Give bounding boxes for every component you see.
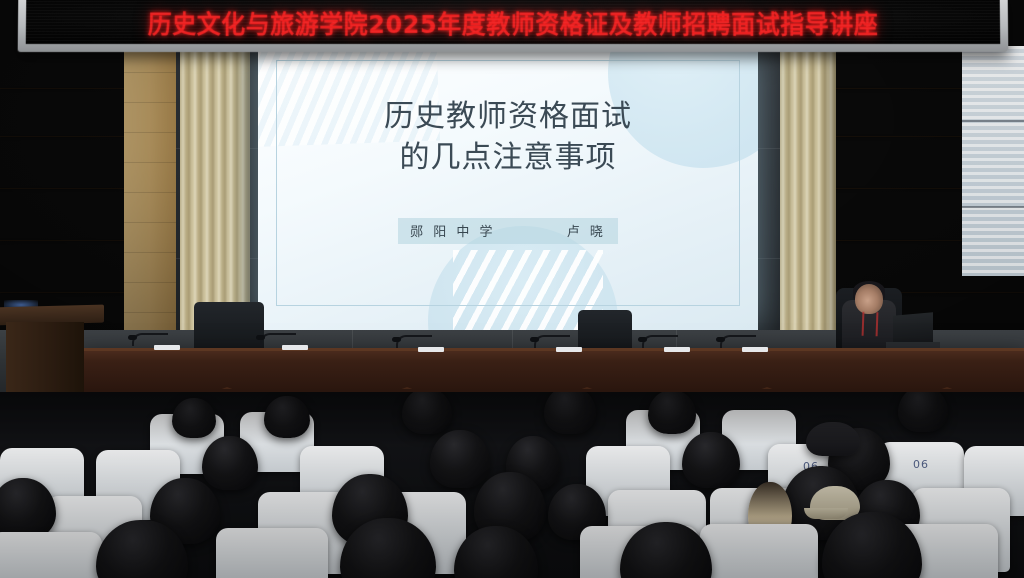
seat-number: 06 [913, 458, 929, 471]
microphone-head [530, 337, 539, 342]
audience-seat [700, 524, 818, 578]
microphone-base [742, 347, 768, 352]
lecture-hall-scene: 历史教师资格面试 的几点注意事项 郧 阳 中 学 卢 晓 历史文化与旅游学院20… [0, 0, 1024, 578]
audience-seat [216, 528, 328, 578]
table-microphone [128, 334, 180, 350]
audience-head [172, 398, 216, 438]
led-banner-screen: 历史文化与旅游学院2025年度教师资格证及教师招聘面试指导讲座 [26, 0, 1000, 44]
curtain-right [780, 44, 836, 362]
microphone-head [128, 335, 137, 340]
window-mullion [962, 120, 1024, 122]
window-blinds [962, 46, 1024, 276]
table-microphone [638, 336, 690, 352]
table-microphone [716, 336, 768, 352]
slide-frame: 历史教师资格面试 的几点注意事项 郧 阳 中 学 卢 晓 [276, 60, 740, 306]
audience-cap-dark [806, 422, 860, 456]
slide-title: 历史教师资格面试 的几点注意事项 [384, 97, 632, 178]
slide-title-line-1: 历史教师资格面试 [384, 97, 632, 138]
microphone-base [664, 347, 690, 352]
stage-chair [578, 310, 632, 352]
microphone-base [556, 347, 582, 352]
microphone-head [716, 337, 725, 342]
audience-cap-brim [804, 508, 848, 519]
audience-head [402, 392, 452, 434]
led-banner-text: 历史文化与旅游学院2025年度教师资格证及教师招聘面试指导讲座 [148, 2, 879, 39]
audience-area: 06 06 [0, 392, 1024, 578]
audience-head [544, 392, 596, 434]
microphone-head [392, 337, 401, 342]
stage-chair [194, 302, 264, 352]
window-mullion [962, 206, 1024, 208]
table-microphone [392, 336, 444, 352]
table-microphone [530, 336, 582, 352]
audience-head [264, 396, 310, 438]
audience-head [898, 392, 948, 432]
microphone-base [282, 345, 308, 350]
slide-subtitle: 郧 阳 中 学 卢 晓 [398, 218, 618, 244]
microphone-base [418, 347, 444, 352]
led-banner-frame: 历史文化与旅游学院2025年度教师资格证及教师招聘面试指导讲座 [18, 0, 1009, 52]
microphone-base [154, 345, 180, 350]
projection-screen: 历史教师资格面试 的几点注意事项 郧 阳 中 学 卢 晓 [258, 48, 758, 330]
audience-head [682, 432, 740, 488]
audience-head [202, 436, 258, 490]
slide-title-line-2: 的几点注意事项 [384, 138, 632, 179]
speaker-head [855, 284, 883, 314]
microphone-head [638, 337, 647, 342]
table-microphone [256, 334, 308, 350]
audience-head [648, 392, 696, 434]
window-panel [962, 46, 1024, 276]
speaker-lanyard [862, 312, 879, 337]
microphone-head [256, 335, 265, 340]
audience-seat [0, 532, 102, 578]
laptop [893, 312, 933, 345]
audience-head [430, 430, 490, 488]
